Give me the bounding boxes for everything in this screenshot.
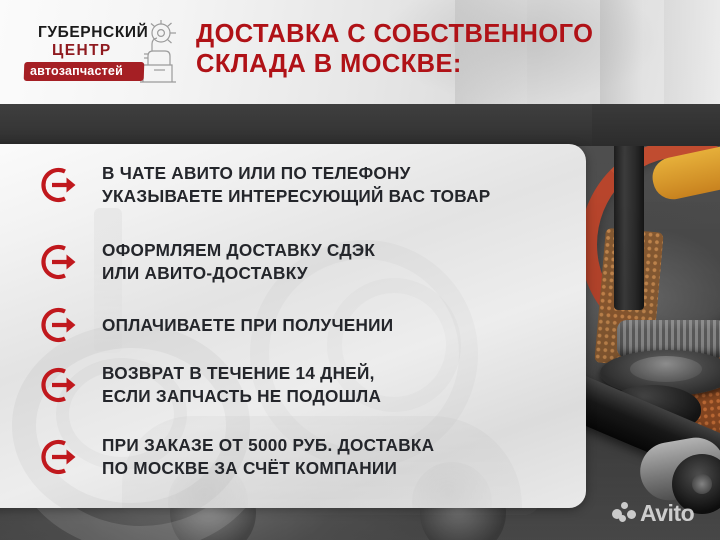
exit-arrow-icon bbox=[40, 364, 82, 406]
exit-arrow-icon bbox=[40, 304, 82, 346]
exit-arrow-icon bbox=[40, 164, 82, 206]
delivery-info-banner: ГУБЕРНСКИЙ ЦЕНТР автозапчастей ДОСТАВКА … bbox=[0, 0, 720, 540]
step-label: ОФОРМЛЯЕМ ДОСТАВКУ СДЭК ИЛИ АВИТО-ДОСТАВ… bbox=[102, 239, 375, 285]
exit-arrow-icon bbox=[40, 436, 82, 478]
step-label: ВОЗВРАТ В ТЕЧЕНИЕ 14 ДНЕЙ, ЕСЛИ ЗАПЧАСТЬ… bbox=[102, 362, 381, 408]
avito-dots-icon bbox=[612, 502, 636, 524]
logo-line-3: автозапчастей bbox=[30, 64, 123, 78]
step-label: В ЧАТЕ АВИТО ИЛИ ПО ТЕЛЕФОНУ УКАЗЫВАЕТЕ … bbox=[102, 162, 490, 208]
step-item: ПРИ ЗАКАЗЕ ОТ 5000 РУБ. ДОСТАВКА ПО МОСК… bbox=[40, 434, 434, 480]
steps-list: В ЧАТЕ АВИТО ИЛИ ПО ТЕЛЕФОНУ УКАЗЫВАЕТЕ … bbox=[0, 144, 586, 508]
step-item: ВОЗВРАТ В ТЕЧЕНИЕ 14 ДНЕЙ, ЕСЛИ ЗАПЧАСТЬ… bbox=[40, 362, 381, 408]
steps-panel: В ЧАТЕ АВИТО ИЛИ ПО ТЕЛЕФОНУ УКАЗЫВАЕТЕ … bbox=[0, 144, 586, 508]
logo-line-1: ГУБЕРНСКИЙ bbox=[38, 24, 148, 42]
page-title: ДОСТАВКА С СОБСТВЕННОГО СКЛАДА В МОСКВЕ: bbox=[196, 20, 696, 79]
company-logo[interactable]: ГУБЕРНСКИЙ ЦЕНТР автозапчастей bbox=[22, 22, 174, 84]
step-label: ОПЛАЧИВАЕТЕ ПРИ ПОЛУЧЕНИИ bbox=[102, 314, 393, 337]
step-item: ОПЛАЧИВАЕТЕ ПРИ ПОЛУЧЕНИИ bbox=[40, 304, 393, 346]
header-divider-band-right bbox=[592, 104, 720, 146]
exit-arrow-icon bbox=[40, 241, 82, 283]
step-item: ОФОРМЛЯЕМ ДОСТАВКУ СДЭК ИЛИ АВИТО-ДОСТАВ… bbox=[40, 239, 375, 285]
step-item: В ЧАТЕ АВИТО ИЛИ ПО ТЕЛЕФОНУ УКАЗЫВАЕТЕ … bbox=[40, 162, 490, 208]
header-bar: ГУБЕРНСКИЙ ЦЕНТР автозапчастей ДОСТАВКА … bbox=[0, 0, 720, 104]
logo-line-2: ЦЕНТР bbox=[52, 42, 112, 60]
avito-label: Avito bbox=[640, 502, 694, 525]
avito-watermark: Avito bbox=[612, 500, 708, 526]
step-label: ПРИ ЗАКАЗЕ ОТ 5000 РУБ. ДОСТАВКА ПО МОСК… bbox=[102, 434, 434, 480]
